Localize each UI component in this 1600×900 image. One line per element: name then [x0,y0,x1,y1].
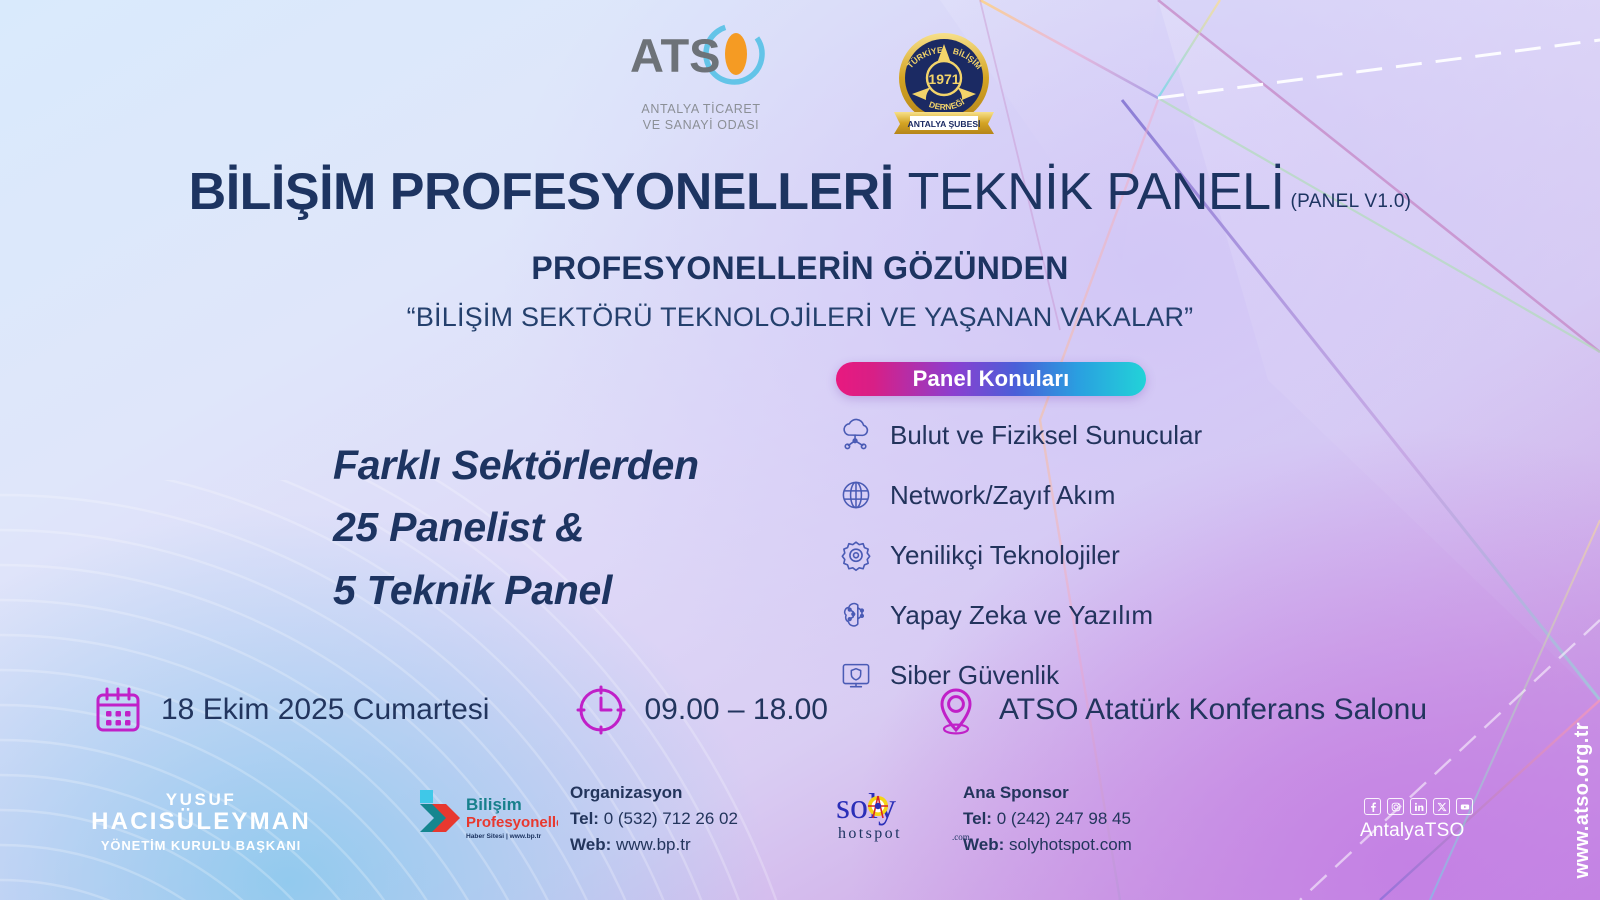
globe-network-icon [836,475,876,515]
gear-innovation-icon [836,535,876,575]
sponsor-block: Ana Sponsor Tel: 0 (242) 247 98 45 Web: … [963,780,1132,857]
page-title: BİLİŞİM PROFESYONELLERİ TEKNİK PANELİ(PA… [0,162,1600,222]
organization-web[interactable]: www.bp.tr [616,835,691,854]
sponsor-web-row: Web: solyhotspot.com [963,832,1132,858]
organization-tel-row: Tel: 0 (532) 712 26 02 [570,806,738,832]
event-date: 18 Ekim 2025 Cumartesi [161,693,489,727]
instagram-icon[interactable] [1387,798,1404,815]
event-venue: ATSO Atatürk Konferans Salonu [999,693,1427,727]
title-light-part: TEKNİK PANELİ [908,163,1285,221]
organization-block: Organizasyon Tel: 0 (532) 712 26 02 Web:… [570,780,738,857]
event-poster: ATS ANTALYA TİCARET VE SANAYİ ODASI [0,0,1600,900]
title-quote: “BİLİŞİM SEKTÖRÜ TEKNOLOJİLERİ VE YAŞANA… [0,302,1600,333]
atso-wordmark: ATS [630,29,721,82]
tbd-year: 1971 [928,71,959,87]
chairman-first-name: YUSUF [56,790,346,809]
organization-tel: 0 (532) 712 26 02 [604,809,738,828]
calendar-icon [92,684,144,736]
topic-item: Yapay Zeka ve Yazılım [836,594,1166,636]
bp-logo-line2: Profesyonelleri [466,814,558,831]
topic-label: Yapay Zeka ve Yazılım [890,600,1153,631]
topic-item: Bulut ve Fiziksel Sunucular [836,414,1166,456]
stats-block: Farklı Sektörlerden 25 Panelist & 5 Tekn… [333,434,699,621]
title-version: (PANEL V1.0) [1291,191,1412,212]
x-icon[interactable] [1433,798,1450,815]
bp-logo-tagline: Haber Sitesi | www.bp.tr [466,833,542,840]
topic-label: Bulut ve Fiziksel Sunucular [890,420,1202,451]
title-subtitle: PROFESYONELLERİN GÖZÜNDEN [0,250,1600,287]
sponsor-tel-label: Tel: [963,809,992,828]
bp-logo-line1: Bilişim [466,795,522,814]
location-pin-icon [930,684,982,736]
detail-time: 09.00 – 18.00 [575,684,828,736]
brain-ai-icon [836,595,876,635]
stats-line-1: Farklı Sektörlerden [333,434,699,496]
organization-heading: Organizasyon [570,780,738,806]
topic-item: Network/Zayıf Akım [836,474,1166,516]
organization-tel-label: Tel: [570,809,599,828]
event-time: 09.00 – 18.00 [644,693,828,727]
chairman-role: YÖNETİM KURULU BAŞKANI [56,838,346,853]
organization-web-row: Web: www.bp.tr [570,832,738,858]
atso-subtitle-line1: ANTALYA TİCARET [641,101,760,117]
tbd-ribbon-text: ANTALYA ŞUBESİ [908,119,981,129]
clock-icon [575,684,627,736]
cloud-server-icon [836,415,876,455]
soly-logo-subtext: hotspot [838,825,902,842]
atso-subtitle: ANTALYA TİCARET VE SANAYİ ODASI [641,101,760,134]
atso-website-url[interactable]: www.atso.org.tr [1571,722,1594,878]
sponsor-web[interactable]: solyhotspot.com [1009,835,1132,854]
detail-date: 18 Ekim 2025 Cumartesi [92,684,489,736]
detail-venue: ATSO Atatürk Konferans Salonu [930,684,1427,736]
stats-line-2: 25 Panelist & [333,496,699,558]
youtube-icon[interactable] [1456,798,1473,815]
title-bold-part: BİLİŞİM PROFESYONELLERİ [189,163,894,221]
topic-item: Yenilikçi Teknolojiler [836,534,1166,576]
sponsor-tel: 0 (242) 247 98 45 [997,809,1131,828]
sponsor-web-label: Web: [963,835,1004,854]
atso-logo: ATS ANTALYA TİCARET VE SANAYİ ODASI [596,20,806,134]
panel-topics-badge: Panel Konuları [836,362,1146,396]
panel-topics: Panel Konuları Bulut ve Fiziksel Sunucul… [836,362,1166,696]
sponsor-tel-row: Tel: 0 (242) 247 98 45 [963,806,1132,832]
chairman-block: YUSUF HACISÜLEYMAN YÖNETİM KURULU BAŞKAN… [56,790,346,853]
topic-label: Network/Zayıf Akım [890,480,1115,511]
social-handle: AntalyaTSO [1360,820,1464,842]
organization-web-label: Web: [570,835,611,854]
stats-line-3: 5 Teknik Panel [333,559,699,621]
atso-subtitle-line2: VE SANAYİ ODASI [641,117,760,133]
tbd-logo: 1971 TÜRKİYE BİLİŞİM DERNEĞİ ANTALYA ŞUB… [884,20,1004,140]
linkedin-icon[interactable] [1410,798,1427,815]
atso-mark-icon: ATS [626,20,776,92]
logo-row: ATS ANTALYA TİCARET VE SANAYİ ODASI [0,20,1600,140]
topic-label: Yenilikçi Teknolojiler [890,540,1120,571]
bilisim-profesyonelleri-logo: Bilişim Profesyonelleri Haber Sitesi | w… [418,784,558,846]
sponsor-heading: Ana Sponsor [963,780,1132,806]
facebook-icon[interactable] [1364,798,1381,815]
chairman-last-name: HACISÜLEYMAN [56,809,346,836]
social-links [1364,798,1473,815]
event-details: 18 Ekim 2025 Cumartesi 09.00 – 18.00 [90,684,1490,736]
